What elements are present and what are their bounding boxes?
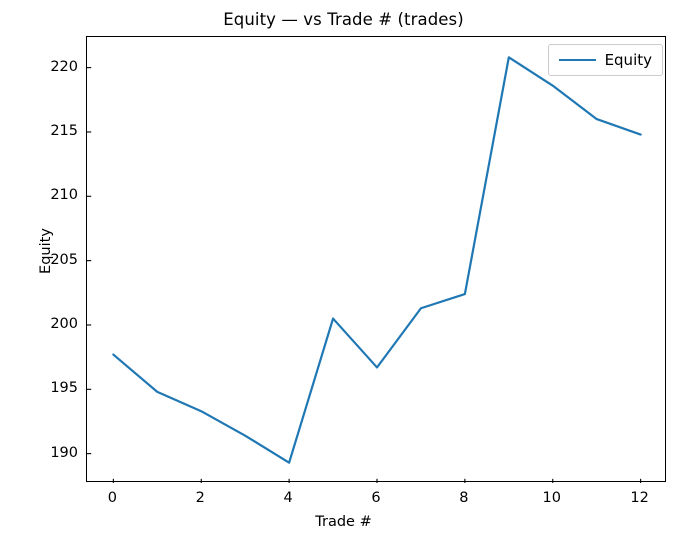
y-tick-label: 215 — [50, 123, 78, 139]
x-tick-label: 0 — [108, 490, 117, 506]
y-tick-label: 195 — [50, 380, 78, 396]
x-tick-label: 8 — [459, 490, 468, 506]
plot-area — [86, 36, 666, 482]
x-axis-tick-labels: 024681012 — [0, 490, 687, 512]
y-tick-label: 210 — [50, 187, 78, 203]
x-tick-label: 2 — [196, 490, 205, 506]
chart-title: Equity — vs Trade # (trades) — [0, 10, 687, 29]
y-axis-tick-labels: 190195200205210215220 — [20, 0, 78, 546]
x-tick-label: 6 — [371, 490, 380, 506]
x-tick-label: 4 — [283, 490, 292, 506]
x-tick-label: 10 — [543, 490, 561, 506]
y-tick-label: 220 — [50, 59, 78, 75]
legend-line-swatch — [559, 59, 596, 61]
legend-label: Equity — [605, 51, 652, 69]
x-axis-label: Trade # — [0, 514, 687, 530]
chart-legend: Equity — [548, 44, 663, 76]
plot-svg — [87, 37, 667, 483]
x-tick-label: 12 — [630, 490, 648, 506]
chart-figure: Equity — vs Trade # (trades) Equity 1901… — [0, 0, 687, 546]
y-tick-label: 205 — [50, 252, 78, 268]
y-tick-label: 200 — [50, 316, 78, 332]
y-tick-label: 190 — [50, 445, 78, 461]
series-line-equity — [113, 57, 640, 462]
